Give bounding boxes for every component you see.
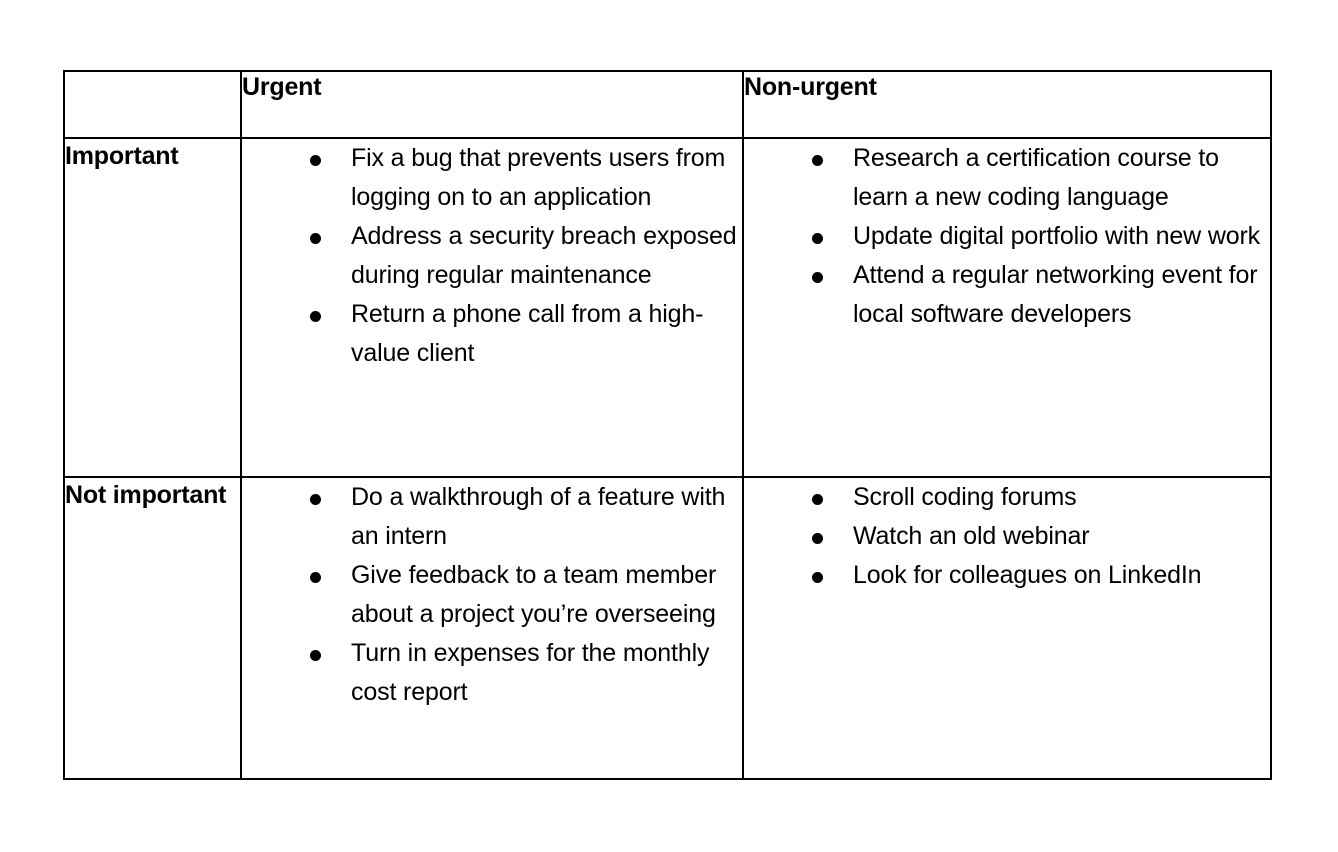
table-row-important: Important Fix a bug that prevents users …	[64, 138, 1271, 477]
table-row-not-important: Not important Do a walkthrough of a feat…	[64, 477, 1271, 779]
list-item: Fix a bug that prevents users from loggi…	[242, 139, 742, 217]
bullet-dot-icon	[811, 139, 825, 178]
task-text: Fix a bug that prevents users from loggi…	[351, 139, 742, 217]
task-text: Scroll coding forums	[853, 478, 1270, 517]
list-item: Watch an old webinar	[744, 517, 1270, 556]
page-canvas: Urgent Non-urgent Important Fix a bug th…	[0, 0, 1338, 852]
task-text: Watch an old webinar	[853, 517, 1270, 556]
row-header-not-important: Not important	[64, 477, 241, 779]
bullet-dot-icon	[309, 217, 323, 256]
list-item: Give feedback to a team member about a p…	[242, 556, 742, 634]
cell-not-important-non-urgent: Scroll coding forums Watch an old webina…	[743, 477, 1271, 779]
task-text: Update digital portfolio with new work	[853, 217, 1270, 256]
bullet-dot-icon	[309, 556, 323, 595]
task-text: Address a security breach exposed during…	[351, 217, 742, 295]
cell-not-important-urgent: Do a walkthrough of a feature with an in…	[241, 477, 743, 779]
column-header-urgent-label: Urgent	[242, 72, 742, 102]
task-text: Turn in expenses for the monthly cost re…	[351, 634, 742, 712]
bullet-dot-icon	[309, 478, 323, 517]
task-text: Give feedback to a team member about a p…	[351, 556, 742, 634]
cell-important-non-urgent: Research a certification course to learn…	[743, 138, 1271, 477]
table-corner-cell	[64, 71, 241, 138]
task-list-not-important-urgent: Do a walkthrough of a feature with an in…	[242, 478, 742, 712]
list-item: Look for colleagues on LinkedIn	[744, 556, 1270, 595]
task-list-important-non-urgent: Research a certification course to learn…	[744, 139, 1270, 334]
list-item: Return a phone call from a high-value cl…	[242, 295, 742, 373]
eisenhower-matrix-table: Urgent Non-urgent Important Fix a bug th…	[63, 70, 1272, 780]
column-header-non-urgent-label: Non-urgent	[744, 72, 1270, 102]
task-text: Do a walkthrough of a feature with an in…	[351, 478, 742, 556]
bullet-dot-icon	[309, 634, 323, 673]
list-item: Turn in expenses for the monthly cost re…	[242, 634, 742, 712]
list-item: Research a certification course to learn…	[744, 139, 1270, 217]
bullet-dot-icon	[309, 139, 323, 178]
bullet-dot-icon	[811, 217, 825, 256]
list-item: Address a security breach exposed during…	[242, 217, 742, 295]
cell-important-urgent: Fix a bug that prevents users from loggi…	[241, 138, 743, 477]
bullet-dot-icon	[811, 556, 825, 595]
task-list-important-urgent: Fix a bug that prevents users from loggi…	[242, 139, 742, 373]
row-header-important-label: Important	[65, 139, 240, 173]
list-item: Scroll coding forums	[744, 478, 1270, 517]
task-text: Look for colleagues on LinkedIn	[853, 556, 1270, 595]
bullet-dot-icon	[811, 256, 825, 295]
column-header-non-urgent: Non-urgent	[743, 71, 1271, 138]
bullet-dot-icon	[811, 478, 825, 517]
list-item: Attend a regular networking event for lo…	[744, 256, 1270, 334]
task-text: Attend a regular networking event for lo…	[853, 256, 1270, 334]
table-header-row: Urgent Non-urgent	[64, 71, 1271, 138]
list-item: Do a walkthrough of a feature with an in…	[242, 478, 742, 556]
column-header-urgent: Urgent	[241, 71, 743, 138]
task-text: Research a certification course to learn…	[853, 139, 1270, 217]
row-header-not-important-label: Not important	[65, 478, 240, 512]
task-text: Return a phone call from a high-value cl…	[351, 295, 742, 373]
bullet-dot-icon	[811, 517, 825, 556]
bullet-dot-icon	[309, 295, 323, 334]
task-list-not-important-non-urgent: Scroll coding forums Watch an old webina…	[744, 478, 1270, 595]
list-item: Update digital portfolio with new work	[744, 217, 1270, 256]
row-header-important: Important	[64, 138, 241, 477]
